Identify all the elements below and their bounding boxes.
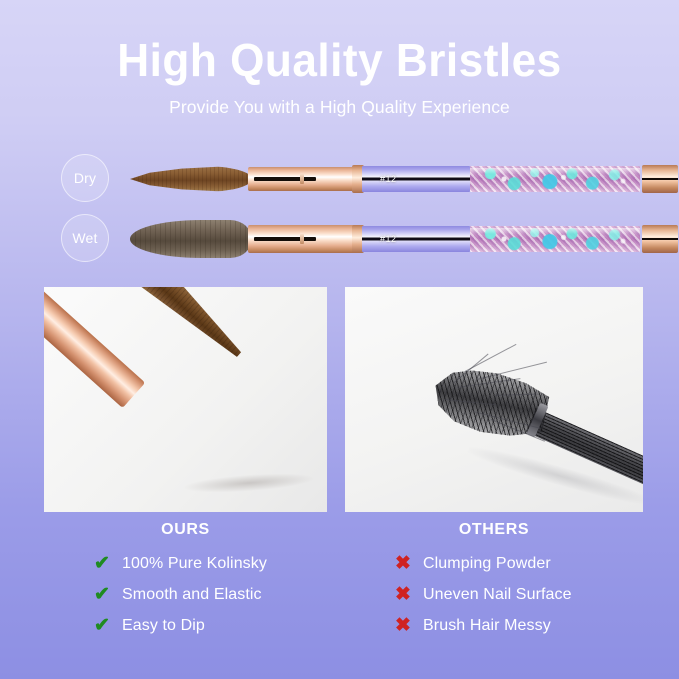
end-cap-dry — [642, 165, 678, 193]
handle-glitter-wet — [470, 226, 640, 252]
list-item-label: Clumping Powder — [423, 555, 551, 573]
page-title: High Quality Bristles — [14, 36, 666, 84]
bristles-dry-icon — [130, 166, 252, 192]
handle-stripe-wet — [362, 238, 470, 241]
glitter-sheen-wet — [470, 228, 640, 235]
list-item: ✔ Easy to Dip — [92, 610, 327, 641]
handle-stripe-dry — [362, 178, 470, 181]
handle-size-label-dry: #12 — [380, 174, 397, 184]
comparison-title-ours: OURS — [44, 521, 327, 539]
cross-icon: ✖ — [393, 616, 413, 635]
ferrule-dry — [248, 167, 356, 191]
handle-glitter-dry — [470, 166, 640, 192]
list-item-label: Smooth and Elastic — [122, 586, 262, 604]
end-cap-line-dry — [642, 178, 678, 180]
handle-size-label-wet: #12 — [380, 234, 397, 244]
brush-row-dry: Dry #12 — [0, 148, 679, 210]
header-block: High Quality Bristles Provide You with a… — [0, 36, 679, 118]
glitter-sheen-dry — [470, 168, 640, 175]
end-cap-wet — [642, 225, 678, 253]
comparison-column-others: OTHERS ✖ Clumping Powder ✖ Uneven Nail S… — [345, 521, 643, 641]
list-item-label: Easy to Dip — [122, 617, 205, 635]
comparison-column-ours: OURS ✔ 100% Pure Kolinsky ✔ Smooth and E… — [44, 521, 327, 641]
list-item: ✖ Clumping Powder — [393, 548, 643, 579]
badge-wet: Wet — [61, 214, 109, 262]
comparison-title-others: OTHERS — [345, 521, 643, 539]
brush-illustration-wet: #12 — [130, 208, 650, 270]
ferrule-pin-dry — [300, 174, 304, 184]
badge-dry: Dry — [61, 154, 109, 202]
bristles-wet-icon — [130, 220, 252, 258]
list-item-label: 100% Pure Kolinsky — [122, 555, 267, 573]
badge-wet-label: Wet — [72, 230, 97, 246]
brush-row-wet: Wet #12 — [0, 208, 679, 270]
cross-icon: ✖ — [393, 554, 413, 573]
handle-purple-wet: #12 — [362, 226, 470, 252]
others-brush-photo — [345, 287, 643, 512]
check-icon: ✔ — [92, 554, 112, 573]
list-item-label: Brush Hair Messy — [423, 617, 551, 635]
list-item: ✔ 100% Pure Kolinsky — [92, 548, 327, 579]
ferrule-pin-wet — [300, 234, 304, 244]
end-cap-line-wet — [642, 238, 678, 240]
list-item: ✔ Smooth and Elastic — [92, 579, 327, 610]
cross-icon: ✖ — [393, 585, 413, 604]
list-item: ✖ Uneven Nail Surface — [393, 579, 643, 610]
list-item-label: Uneven Nail Surface — [423, 586, 572, 604]
page-subtitle: Provide You with a High Quality Experien… — [0, 97, 679, 118]
ferrule-slot-dry — [254, 177, 316, 181]
comparison-list-ours: ✔ 100% Pure Kolinsky ✔ Smooth and Elasti… — [44, 548, 327, 641]
ferrule-slot-wet — [254, 237, 316, 241]
list-item: ✖ Brush Hair Messy — [393, 610, 643, 641]
handle-purple-dry: #12 — [362, 166, 470, 192]
product-infographic: High Quality Bristles Provide You with a… — [0, 0, 679, 679]
check-icon: ✔ — [92, 585, 112, 604]
brush-illustration-dry: #12 — [130, 148, 650, 210]
ferrule-wet — [248, 225, 356, 253]
check-icon: ✔ — [92, 616, 112, 635]
badge-dry-label: Dry — [74, 170, 96, 186]
ours-brush-photo — [44, 287, 327, 512]
comparison-list-others: ✖ Clumping Powder ✖ Uneven Nail Surface … — [345, 548, 643, 641]
